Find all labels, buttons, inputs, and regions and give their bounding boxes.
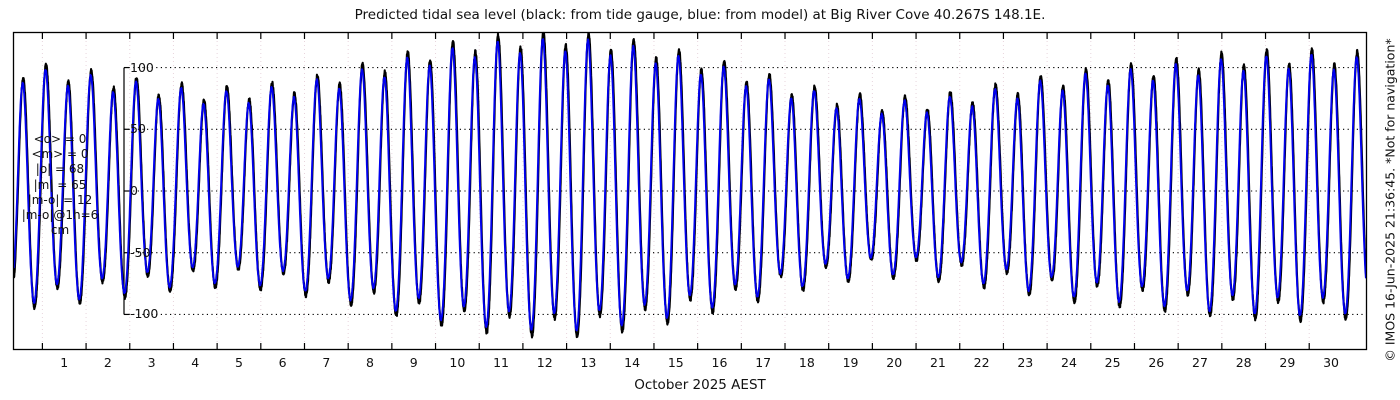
y-axis-tick-label: -100 <box>130 306 158 321</box>
statistics-line: |m-o| = 12 <box>6 193 114 208</box>
x-axis-tick-label: 20 <box>874 355 914 370</box>
x-axis-tick-label: 12 <box>525 355 565 370</box>
x-axis-tick-label: 4 <box>175 355 215 370</box>
x-axis-tick-label: 18 <box>787 355 827 370</box>
statistics-line: <o> = 0 <box>6 132 114 147</box>
statistics-annotation: <o> = 0<m> = 0|o| = 68|m| = 65|m-o| = 12… <box>6 132 114 238</box>
x-axis-tick-label: 10 <box>437 355 477 370</box>
x-axis-tick-label: 5 <box>219 355 259 370</box>
x-axis-tick-label: 14 <box>612 355 652 370</box>
x-axis-tick-label: 16 <box>699 355 739 370</box>
y-axis-tick-label: 50 <box>130 121 146 136</box>
x-axis-tick-label: 7 <box>306 355 346 370</box>
x-axis-tick-label: 22 <box>962 355 1002 370</box>
x-axis-tick-label: 21 <box>918 355 958 370</box>
x-axis-tick-label: 23 <box>1005 355 1045 370</box>
x-axis-tick-label: 6 <box>263 355 303 370</box>
y-axis-tick-label: -50 <box>130 245 150 260</box>
x-axis-tick-label: 29 <box>1267 355 1307 370</box>
x-axis-title: October 2025 AEST <box>0 377 1400 393</box>
x-axis-tick-label: 15 <box>656 355 696 370</box>
x-axis-tick-label: 28 <box>1224 355 1264 370</box>
y-axis-tick-label: 100 <box>130 60 154 75</box>
x-axis-tick-label: 19 <box>831 355 871 370</box>
x-axis-tick-label: 24 <box>1049 355 1089 370</box>
x-axis-tick-label: 17 <box>743 355 783 370</box>
x-axis-tick-label: 9 <box>394 355 434 370</box>
x-axis-tick-label: 26 <box>1136 355 1176 370</box>
statistics-line: cm <box>6 223 114 238</box>
tide-chart-figure: Predicted tidal sea level (black: from t… <box>0 0 1400 400</box>
x-axis-tick-label: 8 <box>350 355 390 370</box>
copyright-text: © IMOS 16-Jun-2025 21:36:45. *Not for na… <box>1383 38 1398 361</box>
statistics-line: <m> = 0 <box>6 147 114 162</box>
copyright-notice: © IMOS 16-Jun-2025 21:36:45. *Not for na… <box>1379 0 1400 400</box>
x-axis-tick-label: 2 <box>88 355 128 370</box>
x-axis-tick-label: 27 <box>1180 355 1220 370</box>
x-axis-tick-label: 1 <box>44 355 84 370</box>
x-axis-tick-label: 3 <box>132 355 172 370</box>
x-axis-tick-label: 13 <box>568 355 608 370</box>
x-axis-tick-label: 30 <box>1311 355 1351 370</box>
x-axis-tick-label: 11 <box>481 355 521 370</box>
statistics-line: |m| = 65 <box>6 178 114 193</box>
statistics-line: |o| = 68 <box>6 162 114 177</box>
statistics-line: |m-o|@1h=6 <box>6 208 114 223</box>
y-axis-tick-label: 0 <box>130 183 138 198</box>
plot-area <box>0 0 1400 400</box>
x-axis-tick-label: 25 <box>1093 355 1133 370</box>
